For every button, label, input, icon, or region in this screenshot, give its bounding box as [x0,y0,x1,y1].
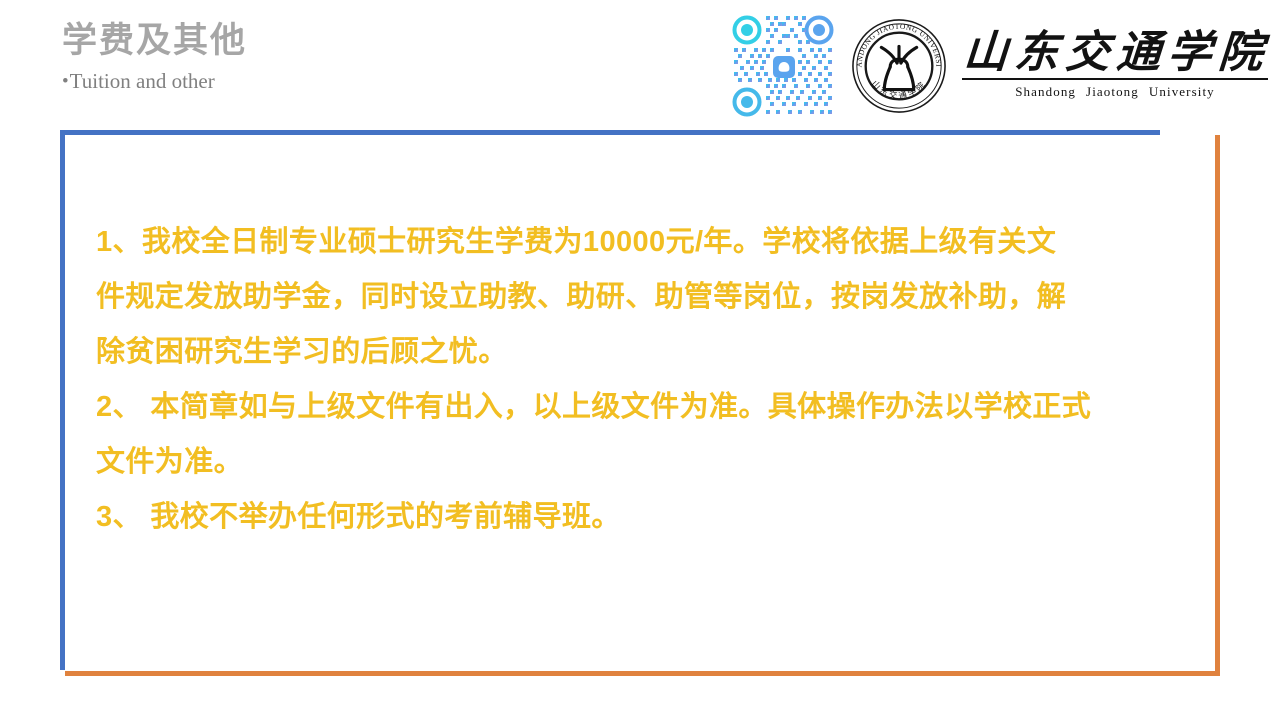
university-seal-icon: SHANDONG JIAOTONG UNIVERSITY 山东交通学院 [850,17,948,115]
body-line: 3、 我校不举办任何形式的考前辅导班。 [96,490,1191,545]
body-line: 除贫困研究生学习的后顾之忧。 [96,325,1191,380]
wordmark-en-word-3: University [1149,84,1215,99]
branding-group: SHANDONG JIAOTONG UNIVERSITY 山东交通学院 [730,12,1268,120]
body-line: 文件为准。 [96,435,1191,490]
university-seal: SHANDONG JIAOTONG UNIVERSITY 山东交通学院 [850,17,948,115]
title-block: 学费及其他 •Tuition and other [62,22,247,94]
wordmark-en-word-1: Shandong [1015,84,1076,99]
wordmark-en-word-2: Jiaotong [1086,84,1139,99]
wordmark-english: ShandongJiaotongUniversity [962,84,1268,100]
body-line: 1、我校全日制专业硕士研究生学费为10000元/年。学校将依据上级有关文 [96,215,1191,270]
page-subtitle: •Tuition and other [62,69,247,94]
wordmark-divider [962,78,1268,80]
wordmark-chinese: 山东交通学院 [962,30,1271,77]
body-line: 件规定发放助学金，同时设立助教、助研、助管等岗位，按岗发放补助，解 [96,270,1191,325]
qr-code[interactable] [730,12,836,120]
slide-canvas: 学费及其他 •Tuition and other [0,0,1280,720]
body-text-block: 1、我校全日制专业硕士研究生学费为10000元/年。学校将依据上级有关文 件规定… [96,215,1191,545]
wordmark: 山东交通学院 ShandongJiaotongUniversity [962,30,1268,103]
bullet-icon: • [62,71,69,92]
qr-code-icon [730,12,836,120]
body-line: 2、 本简章如与上级文件有出入，以上级文件为准。具体操作办法以学校正式 [96,380,1191,435]
page-title: 学费及其他 [62,22,247,61]
slide-header: 学费及其他 •Tuition and other [0,0,1280,128]
page-subtitle-text: Tuition and other [70,69,215,93]
